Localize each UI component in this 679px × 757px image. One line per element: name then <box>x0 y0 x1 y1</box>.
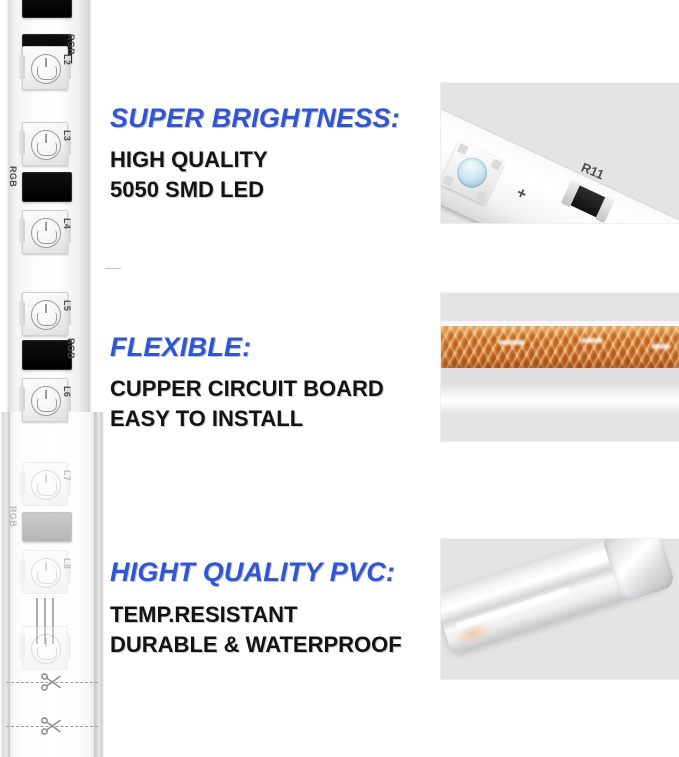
cut-line <box>6 716 98 736</box>
led-pad-left <box>19 635 25 659</box>
led-lens-icon <box>31 470 61 500</box>
silk-label-l2: L2 <box>62 54 72 65</box>
led-chip <box>22 122 68 166</box>
led-pad-left <box>19 559 25 583</box>
smd-led-package <box>440 140 505 205</box>
resistor-cap <box>595 195 615 223</box>
silk-label-l5: L5 <box>62 300 72 311</box>
silk-label-rgb: RGB <box>66 338 76 359</box>
feature-heading-flexible: FLEXIBLE: <box>110 332 251 363</box>
silk-label-l3: L3 <box>62 130 72 141</box>
photo-smd-led-closeup: R11 + D2 <box>440 82 679 224</box>
led-chip <box>22 626 68 670</box>
led-strip-column: RGB L2 L3 RGB L4 L5 RGB <box>0 0 108 757</box>
silkscreen-polarity: + <box>513 184 529 204</box>
photo-pvc-tube-closeup <box>440 538 679 680</box>
pvc-tube <box>440 538 671 654</box>
led-pad-left <box>19 471 25 495</box>
led-lens-icon <box>31 218 61 248</box>
led-chip <box>22 292 68 336</box>
silk-label-l4: L4 <box>62 218 72 229</box>
silk-label-l8: L8 <box>62 558 72 569</box>
led-chip <box>22 210 68 254</box>
silk-label-l6: L6 <box>62 386 72 397</box>
led-pad-left <box>19 219 25 243</box>
silk-label-rgb: RGB <box>8 166 18 187</box>
led-pad-left <box>19 301 25 325</box>
smd-led-dome <box>452 153 492 193</box>
feature-heading-pvc: HIGHT QUALITY PVC: <box>110 557 395 588</box>
rgb-marker-block <box>22 340 72 370</box>
led-pad-left <box>19 55 25 79</box>
feature-body-line1: HIGH QUALITY <box>110 146 268 174</box>
infographic-page: RGB L2 L3 RGB L4 L5 RGB <box>0 0 679 757</box>
feature-body-line2: DURABLE & WATERPROOF <box>110 631 402 659</box>
pcb-strip: R11 + D2 <box>440 91 679 224</box>
led-chip <box>22 462 68 506</box>
led-lens-icon <box>31 130 61 160</box>
rgb-marker-block <box>22 512 72 542</box>
copper-highlight <box>499 340 525 345</box>
led-chip <box>22 550 68 594</box>
cut-line <box>6 672 98 692</box>
copper-highlight <box>581 338 603 343</box>
tube-cut-face <box>601 538 676 603</box>
led-lens-icon <box>31 300 61 330</box>
led-lens-icon <box>31 558 61 588</box>
smd-pad <box>476 190 488 202</box>
rgb-marker-block <box>22 0 72 18</box>
copper-highlight <box>651 344 671 349</box>
scissors-icon <box>40 716 64 736</box>
separator-dash <box>105 268 121 269</box>
feature-body-line1: CUPPER CIRCUIT BOARD <box>110 375 384 403</box>
led-lens-icon <box>31 386 61 416</box>
feature-heading-super-brightness: SUPER BRIGHTNESS: <box>110 103 400 134</box>
silk-label-rgb: RGB <box>8 506 18 527</box>
smd-pad <box>442 175 454 187</box>
led-lens-icon <box>31 54 61 84</box>
photo-copper-braid-closeup <box>440 292 679 442</box>
scissors-icon <box>40 672 64 692</box>
led-lens-icon <box>31 634 61 664</box>
smd-pad <box>490 159 502 171</box>
feature-body-line2: 5050 SMD LED <box>110 176 264 204</box>
led-pad-left <box>19 387 25 411</box>
silk-label-l7: L7 <box>62 470 72 481</box>
silkscreen-r11: R11 <box>579 160 606 183</box>
feature-body-line1: TEMP.RESISTANT <box>110 601 297 629</box>
led-chip <box>22 378 68 422</box>
led-pad-left <box>19 131 25 155</box>
smd-pad <box>457 143 469 155</box>
feature-body-line2: EASY TO INSTALL <box>110 405 303 433</box>
led-pad-right <box>65 635 71 659</box>
copper-braid <box>441 326 679 368</box>
led-chip <box>22 46 68 90</box>
resistor-cap <box>561 179 581 207</box>
smd-resistor <box>565 183 611 220</box>
rgb-marker-block <box>22 172 72 202</box>
